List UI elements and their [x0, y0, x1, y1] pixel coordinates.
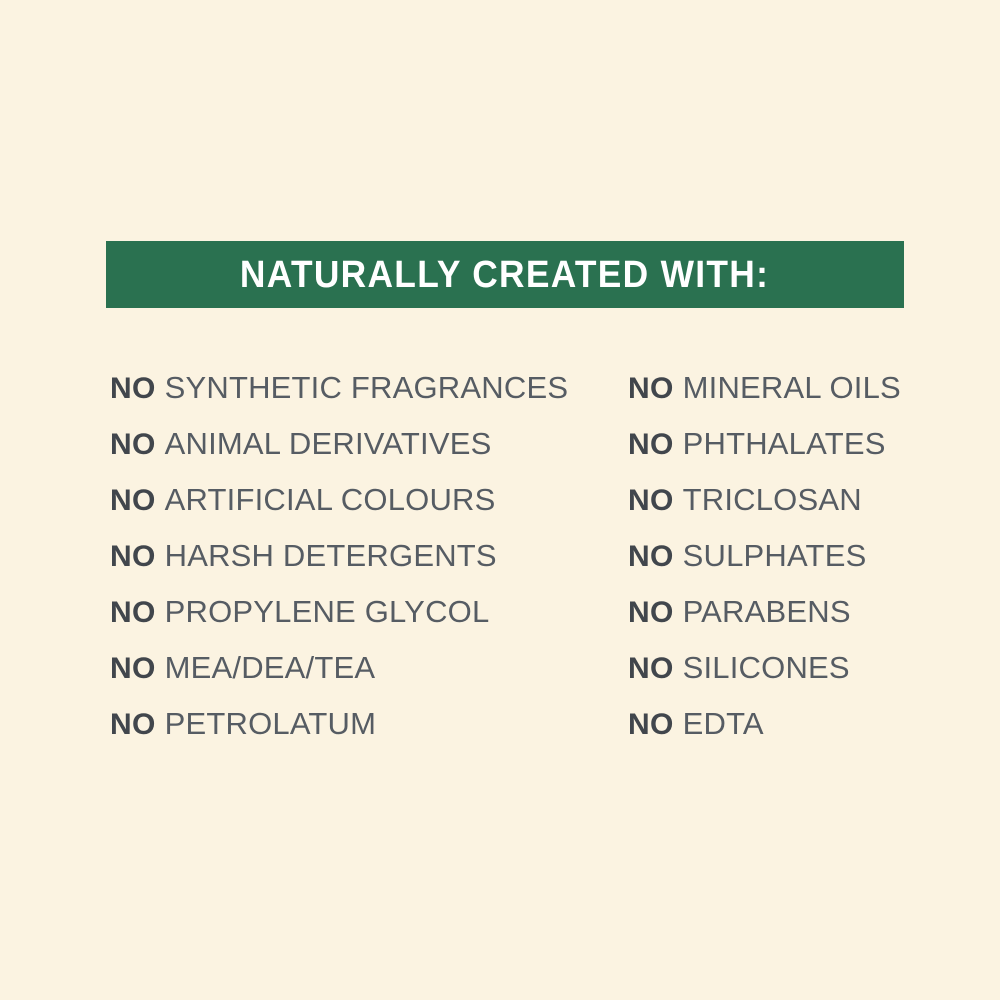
- list-item: NOSULPHATES: [628, 528, 988, 584]
- list-item: NOEDTA: [628, 696, 988, 752]
- free-from-list: NOSYNTHETIC FRAGRANCES NOANIMAL DERIVATI…: [0, 360, 1000, 780]
- list-item: NOPETROLATUM: [110, 696, 610, 752]
- no-label: NO: [628, 596, 674, 629]
- ingredient-label: ARTIFICIAL COLOURS: [165, 482, 496, 517]
- free-from-column-right: NOMINERAL OILS NOPHTHALATES NOTRICLOSAN …: [628, 360, 988, 752]
- ingredient-label: ANIMAL DERIVATIVES: [165, 426, 492, 461]
- list-item: NOSYNTHETIC FRAGRANCES: [110, 360, 610, 416]
- list-item: NOPHTHALATES: [628, 416, 988, 472]
- banner-title: NATURALLY CREATED WITH:: [240, 256, 769, 294]
- ingredient-label: SYNTHETIC FRAGRANCES: [165, 370, 569, 405]
- list-item: NOSILICONES: [628, 640, 988, 696]
- list-item: NOMEA/DEA/TEA: [110, 640, 610, 696]
- ingredient-label: TRICLOSAN: [683, 482, 862, 517]
- ingredient-label: MINERAL OILS: [683, 370, 901, 405]
- ingredient-label: HARSH DETERGENTS: [165, 538, 497, 573]
- no-label: NO: [110, 708, 156, 741]
- ingredient-label: SULPHATES: [683, 538, 867, 573]
- ingredient-label: MEA/DEA/TEA: [165, 650, 376, 685]
- no-label: NO: [628, 540, 674, 573]
- no-label: NO: [628, 484, 674, 517]
- no-label: NO: [110, 372, 156, 405]
- no-label: NO: [628, 708, 674, 741]
- no-label: NO: [628, 652, 674, 685]
- list-item: NOPARABENS: [628, 584, 988, 640]
- ingredient-label: PETROLATUM: [165, 706, 377, 741]
- no-label: NO: [110, 596, 156, 629]
- ingredient-label: SILICONES: [683, 650, 850, 685]
- list-item: NOARTIFICIAL COLOURS: [110, 472, 610, 528]
- list-item: NOHARSH DETERGENTS: [110, 528, 610, 584]
- no-label: NO: [110, 652, 156, 685]
- list-item: NOMINERAL OILS: [628, 360, 988, 416]
- list-item: NOPROPYLENE GLYCOL: [110, 584, 610, 640]
- banner-naturally-created-with: NATURALLY CREATED WITH:: [106, 241, 904, 308]
- free-from-column-left: NOSYNTHETIC FRAGRANCES NOANIMAL DERIVATI…: [110, 360, 610, 752]
- ingredient-label: PHTHALATES: [683, 426, 886, 461]
- no-label: NO: [628, 372, 674, 405]
- no-label: NO: [110, 428, 156, 461]
- ingredient-label: EDTA: [683, 706, 764, 741]
- ingredient-label: PROPYLENE GLYCOL: [165, 594, 490, 629]
- free-from-claims-poster: NATURALLY CREATED WITH: NOSYNTHETIC FRAG…: [0, 0, 1000, 1000]
- list-item: NOANIMAL DERIVATIVES: [110, 416, 610, 472]
- no-label: NO: [110, 484, 156, 517]
- no-label: NO: [110, 540, 156, 573]
- list-item: NOTRICLOSAN: [628, 472, 988, 528]
- no-label: NO: [628, 428, 674, 461]
- ingredient-label: PARABENS: [683, 594, 851, 629]
